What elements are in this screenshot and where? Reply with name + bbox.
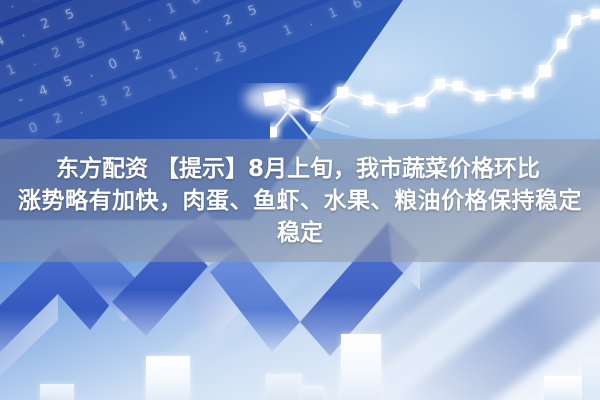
bar [146,356,190,400]
bar [266,374,302,400]
caption-line-3: 稳定 [277,217,323,249]
caption-line-1: 东方配资 【提示】8月上旬，我市蔬菜价格环比 [56,153,540,185]
caption-text: 东方配资 【提示】8月上旬，我市蔬菜价格环比 涨势略有加快，肉蛋、鱼虾、水果、粮… [0,139,600,262]
bar [40,384,74,400]
bar [341,334,381,400]
caption-line-2: 涨势略有加快，肉蛋、鱼虾、水果、粮油价格保持稳定 [18,185,582,217]
banner-image: -45.02 -11.25 +15.02 21.09 -02.36 -50.02… [0,0,600,400]
bar [302,386,324,400]
bar [544,376,582,400]
bar [582,360,600,400]
